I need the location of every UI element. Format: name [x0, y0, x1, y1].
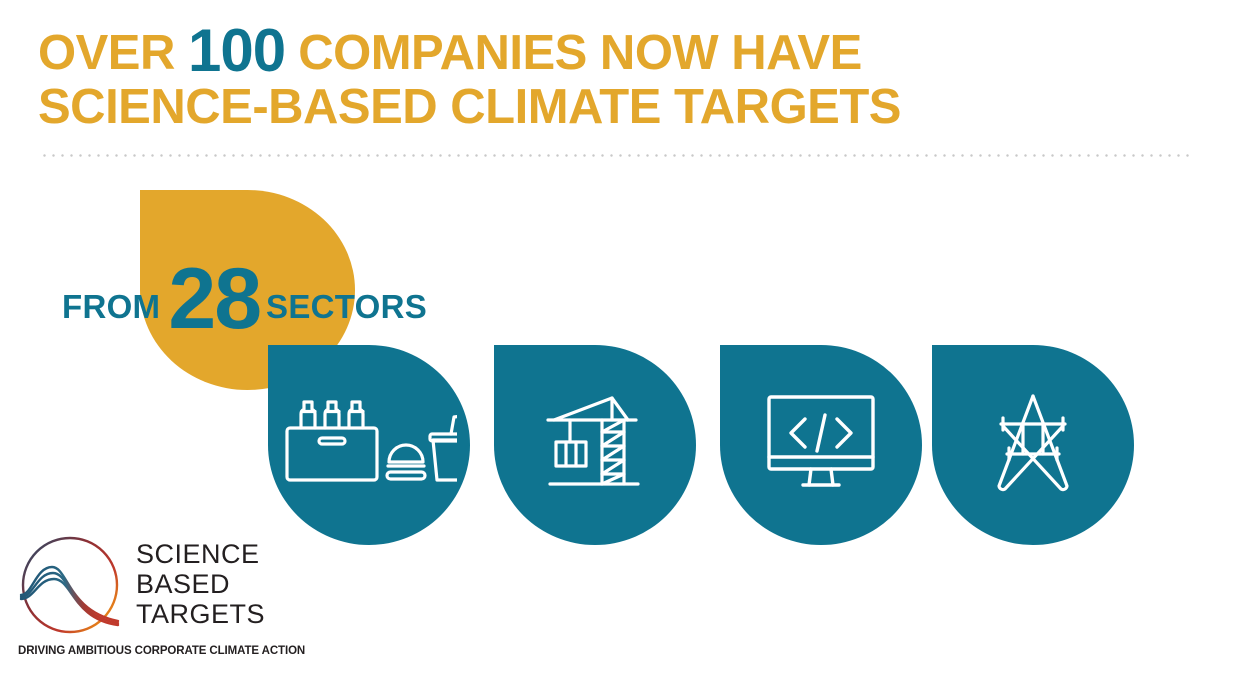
sector-leaf-food-and-beverage: [268, 345, 470, 545]
headline-line-1-prefix: OVER: [38, 26, 188, 80]
infographic-canvas: OVER 100 COMPANIES NOW HAVE SCIENCE-BASE…: [0, 0, 1240, 692]
power-transmission-tower-icon: [985, 390, 1081, 500]
logo-word-science: SCIENCE: [136, 539, 265, 569]
sectors-statement: FROM 28 SECTORS: [62, 248, 427, 334]
headline-line-1: OVER 100 COMPANIES NOW HAVE: [38, 24, 1038, 80]
computer-code-icon: [765, 393, 877, 497]
logo-wordmark: SCIENCE BASED TARGETS: [136, 539, 265, 629]
sector-leaf-technology: [720, 345, 922, 545]
sectors-prefix: FROM: [62, 288, 160, 326]
dotted-divider: [40, 154, 1192, 157]
logo-word-targets: TARGETS: [136, 599, 265, 629]
headline-line-2: SCIENCE-BASED CLIMATE TARGETS: [38, 80, 1038, 134]
page-title: OVER 100 COMPANIES NOW HAVE SCIENCE-BASE…: [38, 24, 1038, 134]
science-based-targets-logo: SCIENCE BASED TARGETS DRIVING AMBITIOUS …: [18, 533, 298, 657]
sectors-suffix: SECTORS: [266, 288, 427, 326]
sbt-emblem-icon: [18, 533, 122, 637]
sector-leaf-electric-utilities: [932, 345, 1134, 545]
headline-line-1-suffix: COMPANIES NOW HAVE: [285, 26, 862, 80]
logo-tagline: DRIVING AMBITIOUS CORPORATE CLIMATE ACTI…: [18, 645, 298, 657]
headline-company-count: 100: [188, 17, 285, 84]
food-and-beverage-icon: [281, 390, 457, 500]
construction-crane-icon: [540, 390, 650, 500]
sector-leaf-construction: [494, 345, 696, 545]
logo-word-based: BASED: [136, 569, 265, 599]
sector-count: 28: [168, 256, 260, 342]
